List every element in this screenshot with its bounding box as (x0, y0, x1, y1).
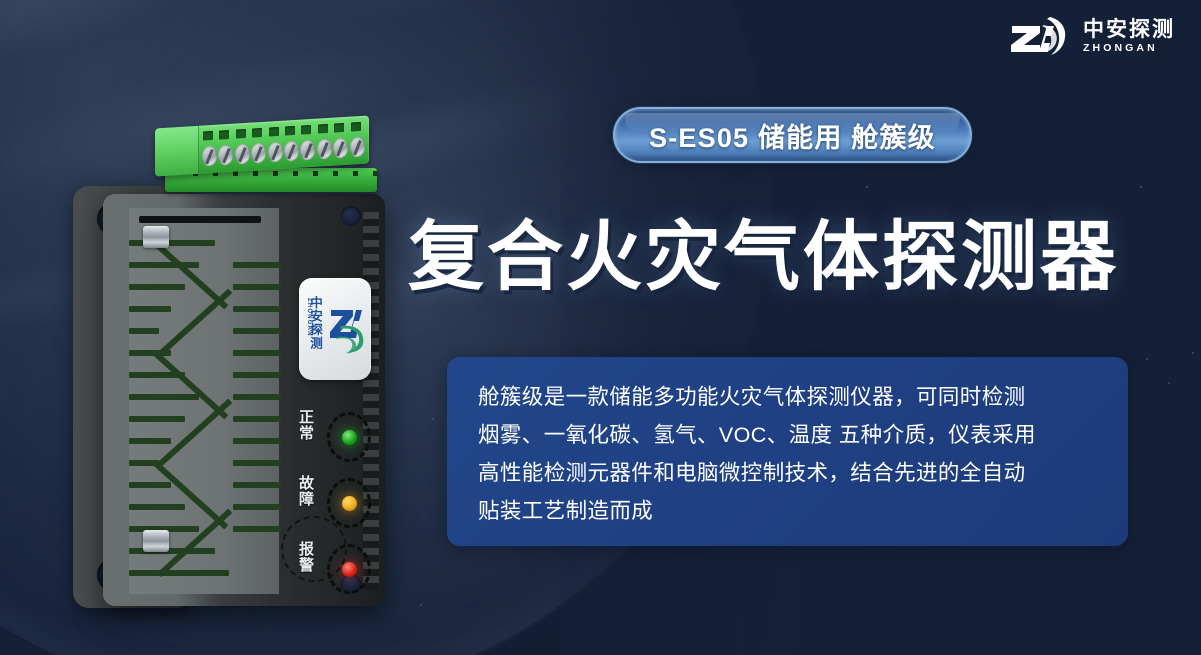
product-label-plate: 中安探测 ZHONGAN (299, 278, 371, 380)
led-dot-green (342, 430, 357, 445)
terminal-slot (219, 130, 229, 140)
terminal-slot (318, 124, 328, 134)
product-label-name-en: ZHONGAN (306, 298, 312, 337)
terminal-screw (251, 143, 266, 164)
terminal-screw (218, 145, 233, 166)
terminal-block-cap (155, 126, 199, 177)
page-title: 复合火灾气体探测器 (408, 195, 1119, 305)
product-series-badge: S-ES05 储能用 舱簇级 (613, 107, 972, 163)
terminal-screw (284, 141, 299, 162)
terminal-screw (317, 139, 332, 160)
terminal-slot (252, 128, 262, 138)
led-dot-red (342, 562, 357, 577)
terminal-slot (236, 129, 246, 139)
terminal-slot (334, 123, 344, 133)
product-series-badge-label: S-ES05 储能用 舱簇级 (649, 116, 936, 155)
terminal-slot (285, 126, 295, 136)
led-ring (327, 412, 371, 462)
housing-tab-hole (341, 206, 361, 226)
side-screw (143, 226, 169, 248)
brand-name-en: ZHONGAN (1083, 43, 1175, 54)
description-line: 舱簇级是一款储能多功能火灾气体探测仪器，可同时检测 (478, 378, 1098, 416)
terminal-screw (350, 137, 365, 158)
led-label: 故障 (295, 475, 316, 507)
led-indicator-normal: 正常 (289, 406, 385, 468)
side-screw (143, 530, 169, 552)
brand-logo-text: 中安探测 ZHONGAN (1083, 19, 1175, 54)
za-swoosh-logo-icon (1006, 14, 1072, 58)
terminal-slot (203, 131, 213, 141)
terminal-slot (301, 125, 311, 135)
description-panel: 舱簇级是一款储能多功能火灾气体探测仪器，可同时检测 烟雾、一氧化碳、氢气、VOC… (447, 357, 1128, 546)
terminal-block (155, 118, 377, 192)
terminal-screw (268, 142, 283, 163)
product-image: 中安探测 ZHONGAN 正常 故障 (55, 118, 395, 618)
terminal-screw (333, 138, 348, 159)
sounder-vent-ring (281, 516, 347, 582)
brand-name-cn: 中安探测 (1083, 19, 1175, 40)
terminal-slot (351, 122, 361, 132)
product-banner: 中安探测 ZHONGAN S-ES05 储能用 舱簇级 复合火灾气体探测器 舱簇… (0, 0, 1201, 655)
led-ring (327, 478, 371, 528)
brand-logo: 中安探测 ZHONGAN (1006, 14, 1175, 58)
za-swoosh-logo-icon (323, 304, 367, 354)
terminal-screw (300, 140, 315, 161)
vent-top-bar (139, 216, 261, 223)
description-line: 烟雾、一氧化碳、氢气、VOC、温度 五种介质，仪表采用 (478, 416, 1098, 454)
description-line: 贴装工艺制造而成 (478, 492, 1098, 530)
terminal-screw (235, 144, 250, 165)
terminal-screw-row (202, 137, 366, 169)
terminal-slot (269, 127, 279, 137)
description-line: 高性能检测元器件和电脑微控制技术，结合先进的全自动 (478, 454, 1098, 492)
terminal-screw (202, 146, 217, 167)
led-label: 正常 (295, 409, 316, 441)
led-dot-amber (342, 496, 357, 511)
